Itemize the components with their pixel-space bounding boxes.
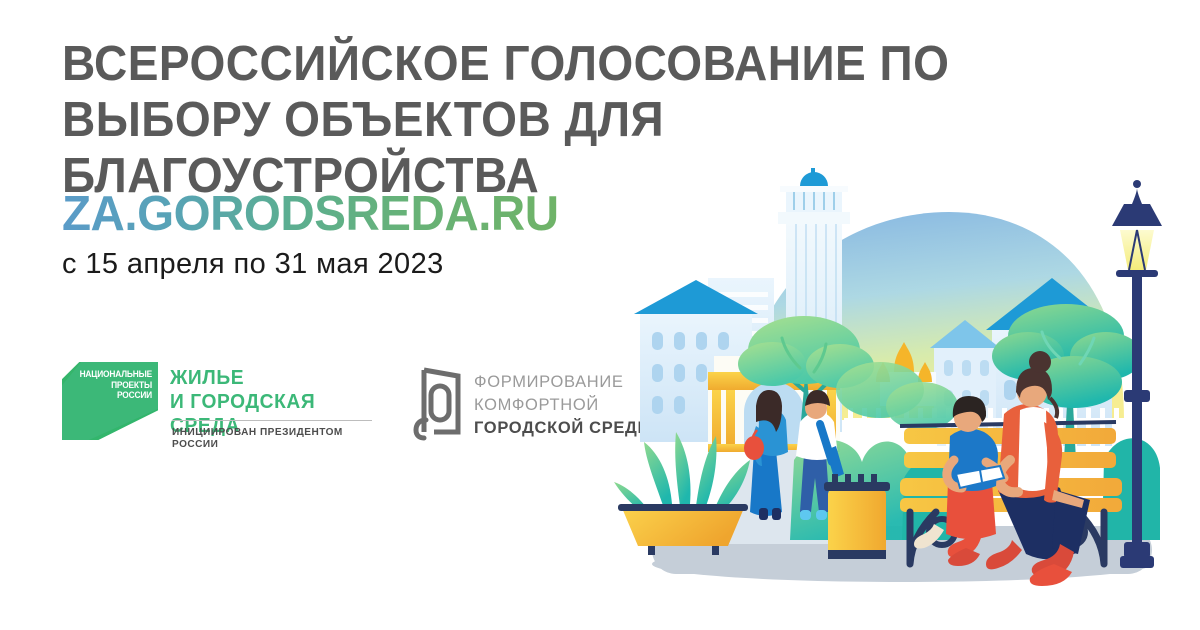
divider bbox=[172, 420, 372, 421]
voting-period-text: с 15 апреля по 31 мая 2023 bbox=[62, 248, 444, 281]
fks-line-1: ФОРМИРОВАНИЕ bbox=[474, 372, 624, 392]
house-flag-icon bbox=[408, 366, 462, 442]
city-park-illustration bbox=[604, 160, 1200, 600]
voting-site-url[interactable]: ZA.GORODSREDA.RU bbox=[62, 186, 559, 242]
logo-national-projects: НАЦИОНАЛЬНЫЕ ПРОЕКТЫ РОССИИ ЖИЛЬЕ И ГОРО… bbox=[62, 362, 362, 448]
national-projects-flag-label: НАЦИОНАЛЬНЫЕ ПРОЕКТЫ РОССИИ bbox=[78, 370, 152, 402]
promo-banner: ВСЕРОССИЙСКОЕ ГОЛОСОВАНИЕ ПО ВЫБОРУ ОБЪЕ… bbox=[0, 0, 1200, 630]
fks-line-2: КОМФОРТНОЙ bbox=[474, 395, 599, 415]
national-projects-subtitle: ИНИЦИИРОВАН ПРЕЗИДЕНТОМ РОССИИ bbox=[172, 426, 354, 450]
trash-bin bbox=[824, 474, 890, 559]
